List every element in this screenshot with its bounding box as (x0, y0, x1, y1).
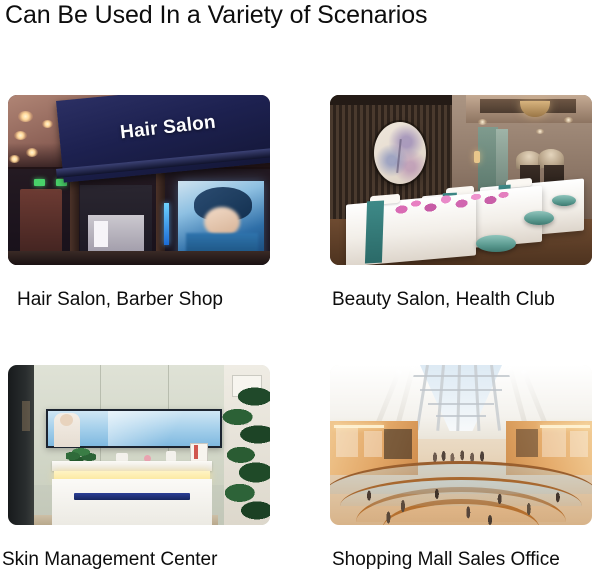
slatted-wall-trim (330, 95, 452, 105)
shop-floor (8, 251, 270, 265)
storefront (570, 431, 588, 457)
scenario-card-skin-center[interactable]: Skin Management Center (8, 365, 270, 525)
bed-runner (365, 200, 384, 263)
desk-blue-band (74, 493, 190, 500)
scenario-caption: Hair Salon, Barber Shop (17, 289, 223, 311)
scenario-card-hair-salon[interactable]: Hair Salon Hair Salon, Barber Shop (8, 95, 270, 265)
downlight (478, 119, 487, 125)
round-stool (476, 235, 516, 252)
storefront-light-strip (540, 425, 590, 428)
scenario-card-shopping-mall[interactable]: Shopping Mall Sales Office (330, 365, 592, 525)
scenario-card-beauty-salon[interactable]: Beauty Salon, Health Club (330, 95, 592, 265)
display-person-head (60, 414, 73, 426)
storefront-dark (516, 429, 538, 457)
page-title: Can Be Used In a Variety of Scenarios (5, 1, 427, 30)
round-stool (552, 195, 576, 206)
desk-signboard-accent (194, 445, 198, 459)
storefront (364, 431, 382, 457)
reception-desk-top (52, 461, 212, 471)
beauty-salon-spa-room-photo (330, 95, 592, 265)
column-light-accent (22, 401, 30, 431)
storefront-dark (384, 429, 412, 459)
skylight-rib (436, 415, 486, 417)
round-stool (524, 211, 554, 225)
dark-column (8, 365, 34, 525)
scenario-caption: Skin Management Center (2, 549, 217, 571)
downlight (536, 129, 544, 134)
scenario-caption: Beauty Salon, Health Club (332, 289, 555, 311)
scenario-caption: Shopping Mall Sales Office (332, 549, 560, 571)
ceiling-spotlight (9, 155, 20, 163)
skylight-rib (420, 389, 502, 391)
reception-desk-body (52, 479, 212, 525)
skin-management-center-photo (8, 365, 270, 525)
display-glare (108, 411, 218, 446)
neon-strip (164, 203, 169, 245)
wall-sconce-light (474, 151, 480, 163)
indoor-plant (216, 379, 270, 525)
hair-salon-storefront-photo: Hair Salon (8, 95, 270, 265)
shopping-mall-atrium-photo (330, 365, 592, 525)
ceiling-spotlight (14, 131, 27, 140)
exit-sign-icon (34, 179, 45, 186)
skylight-rib (428, 403, 494, 405)
lightbox-display-panel (94, 221, 108, 247)
storefront (542, 427, 566, 457)
shoppers (340, 483, 582, 525)
ceiling-spotlight (26, 148, 38, 157)
green-wall-panel (478, 127, 498, 191)
ceiling-spotlight (18, 111, 33, 122)
skylight-rib (412, 375, 510, 377)
storefront-light-strip (334, 425, 384, 428)
downlight (564, 117, 573, 123)
storefront (336, 427, 358, 457)
ceiling-spotlight (42, 120, 53, 128)
